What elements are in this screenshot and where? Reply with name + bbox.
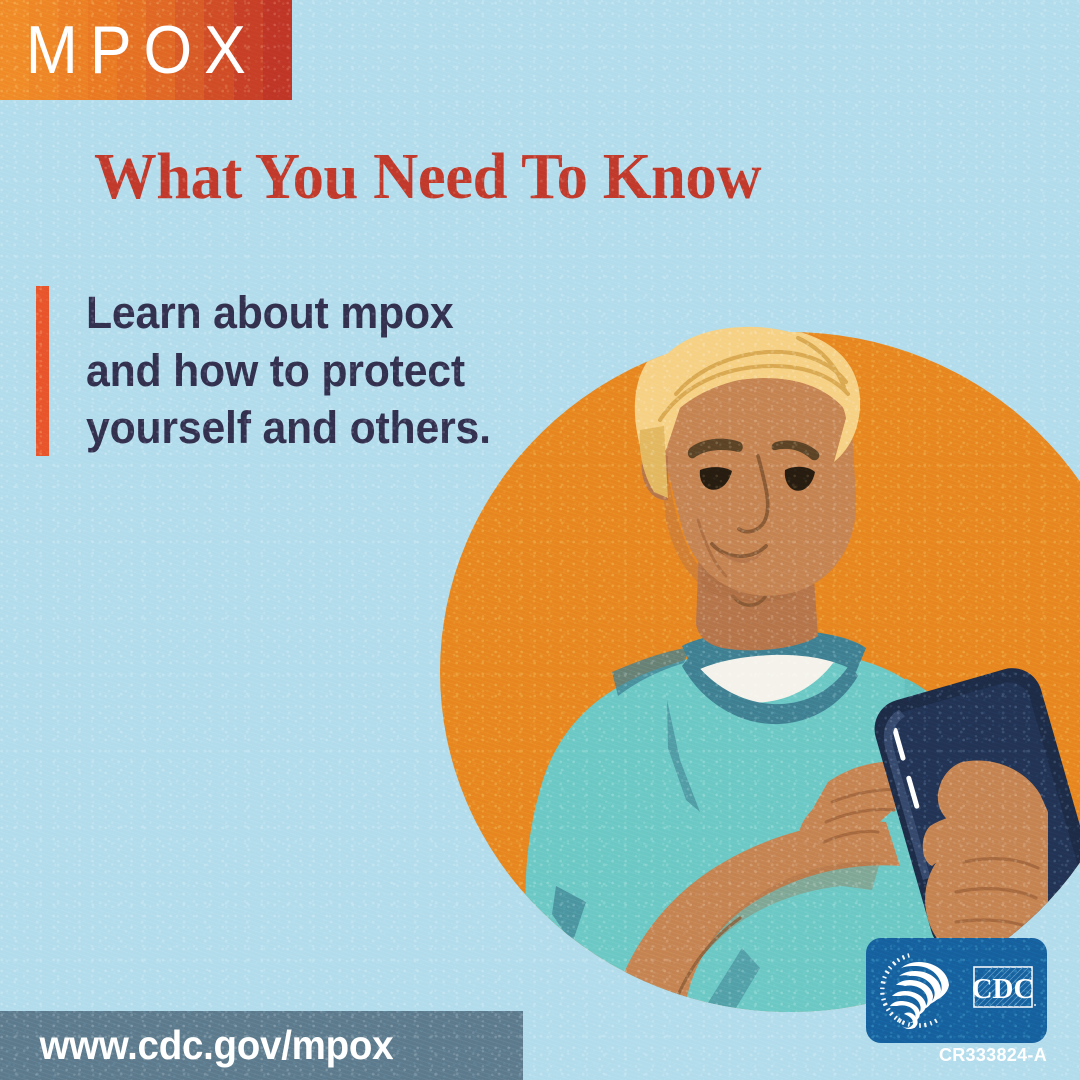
poster-canvas: MPOX What You Need To Know Learn about m…	[0, 0, 1080, 1080]
website-url-label[interactable]: www.cdc.gov/mpox	[0, 1025, 393, 1066]
website-url-bar[interactable]: www.cdc.gov/mpox	[0, 1011, 523, 1080]
page-title: What You Need To Know	[94, 143, 761, 210]
cdc-trademark-dot	[1034, 1004, 1036, 1006]
cdc-hhs-logo: CDC	[866, 938, 1047, 1043]
cdc-wordmark-text: CDC	[972, 973, 1035, 1005]
publication-code: CR333824-A	[866, 1046, 1047, 1064]
mpox-banner-label: MPOX	[0, 16, 258, 84]
subhead-text: Learn about mpox and how to protect your…	[86, 284, 514, 457]
mpox-banner: MPOX	[0, 0, 292, 100]
accent-bar	[36, 286, 49, 456]
